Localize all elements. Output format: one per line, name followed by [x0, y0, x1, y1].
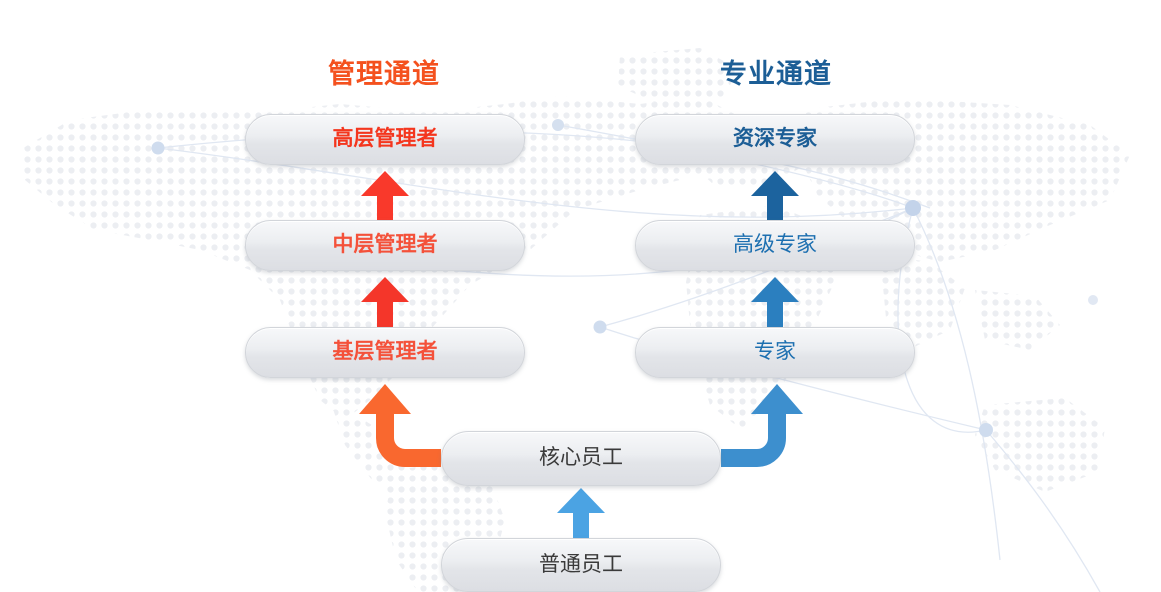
arrow-core-employee-to-expert — [721, 384, 803, 458]
arrow-junior-to-middle-manager — [361, 277, 409, 327]
box-common-employee[interactable]: 普通员工 — [441, 538, 721, 592]
box-senior-manager[interactable]: 高层管理者 — [245, 114, 525, 165]
box-core-employee-label: 核心员工 — [539, 447, 623, 468]
box-advanced-expert-label: 高级专家 — [733, 234, 817, 255]
arrow-middle-to-senior-manager — [361, 171, 409, 220]
box-senior-expert-label: 资深专家 — [733, 128, 817, 149]
arrow-common-to-core-employee — [557, 488, 605, 538]
box-senior-manager-label: 高层管理者 — [333, 128, 438, 149]
management-track-title: 管理通道 — [284, 52, 484, 91]
box-core-employee[interactable]: 核心员工 — [441, 431, 721, 486]
box-expert[interactable]: 专家 — [635, 327, 915, 378]
box-junior-manager-label: 基层管理者 — [333, 341, 438, 362]
box-middle-manager-label: 中层管理者 — [333, 234, 438, 255]
box-senior-expert[interactable]: 资深专家 — [635, 114, 915, 165]
box-middle-manager[interactable]: 中层管理者 — [245, 220, 525, 271]
arrow-expert-to-advanced-expert — [751, 277, 799, 327]
diagram-canvas: 管理通道 专业通道 高层管理者 中层管理者 基层管理者 资深专家 高级专家 专家… — [0, 0, 1161, 592]
box-advanced-expert[interactable]: 高级专家 — [635, 220, 915, 271]
arrow-core-employee-to-junior-manager — [359, 384, 441, 470]
arrows-layer — [0, 0, 1161, 592]
arrow-advanced-to-senior-expert — [751, 171, 799, 220]
professional-track-title: 专业通道 — [676, 52, 876, 91]
box-common-employee-label: 普通员工 — [539, 554, 623, 575]
box-junior-manager[interactable]: 基层管理者 — [245, 327, 525, 378]
box-expert-label: 专家 — [754, 341, 796, 362]
